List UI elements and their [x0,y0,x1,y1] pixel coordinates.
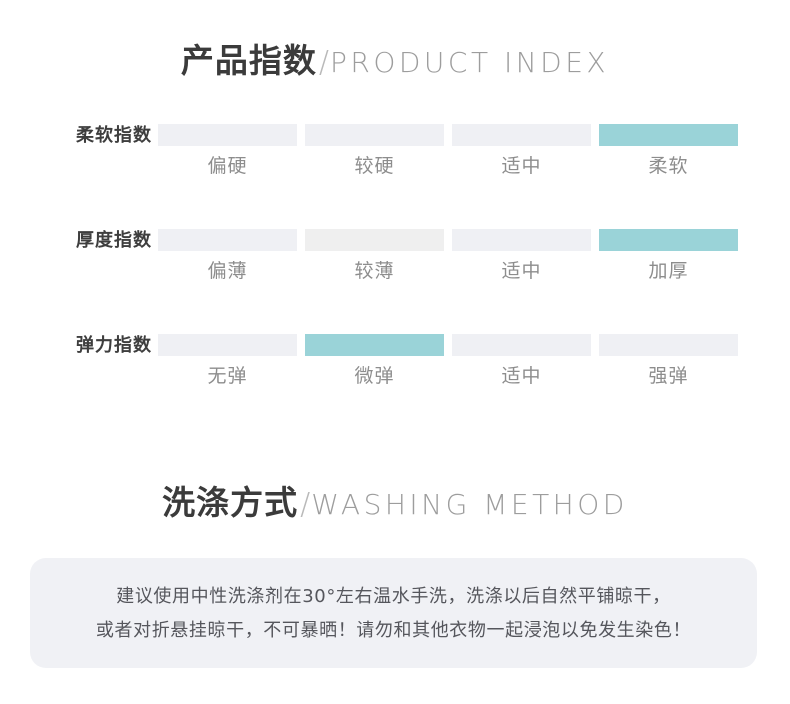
washing-method-title-cn: 洗涤方式 [162,483,298,522]
index-bar-segment[interactable] [599,334,738,356]
washing-instruction-line: 建议使用中性洗涤剂在30°左右温水手洗，洗涤以后自然平铺晾干， [30,580,757,614]
index-bar-label-active: 微弹 [305,363,444,389]
product-index-title-en: PRODUCT INDEX [330,46,609,79]
index-bar-segment[interactable] [158,334,297,356]
index-bar-segment-active[interactable] [599,229,738,251]
index-bar-label-group: 偏硬 较硬 适中 柔软 [158,153,738,179]
index-bar-segment[interactable] [452,124,591,146]
washing-method-title-en: WASHING METHOD [311,488,628,521]
index-bar-segment[interactable] [305,124,444,146]
index-bar-label-active: 加厚 [599,258,738,284]
index-row-thickness: 厚度指数 偏薄 较薄 适中 加厚 [0,223,790,289]
index-bar-label: 强弹 [599,363,738,389]
index-bar-segment[interactable] [158,229,297,251]
index-bar-track [158,124,738,146]
index-bar-label: 较硬 [305,153,444,179]
index-bar-track [158,229,738,251]
product-index-title-separator: / [319,45,329,80]
index-bar-label: 适中 [452,363,591,389]
index-bar-segment[interactable] [158,124,297,146]
index-row-elasticity: 弹力指数 无弹 微弹 适中 强弹 [0,328,790,394]
index-bar-track [158,334,738,356]
index-bar-label: 偏薄 [158,258,297,284]
index-row-label: 弹力指数 [40,331,152,357]
product-index-heading: 产品指数/PRODUCT INDEX [0,44,790,78]
index-bar-label: 无弹 [158,363,297,389]
index-row-softness: 柔软指数 偏硬 较硬 适中 柔软 [0,118,790,184]
washing-method-heading: 洗涤方式/WASHING METHOD [0,486,790,520]
index-bar-label-group: 偏薄 较薄 适中 加厚 [158,258,738,284]
washing-instructions-card: 建议使用中性洗涤剂在30°左右温水手洗，洗涤以后自然平铺晾干， 或者对折悬挂晾干… [30,558,757,668]
index-bar-label-active: 柔软 [599,153,738,179]
index-row-label: 柔软指数 [40,121,152,147]
index-bar-segment[interactable] [452,334,591,356]
index-bar-segment[interactable] [452,229,591,251]
index-bar-segment[interactable] [305,229,444,251]
washing-instruction-line: 或者对折悬挂晾干，不可暴晒！请勿和其他衣物一起浸泡以免发生染色！ [30,614,757,648]
index-bar-segment-active[interactable] [599,124,738,146]
washing-method-title-separator: / [300,487,310,522]
index-bar-label: 适中 [452,153,591,179]
index-bar-label-group: 无弹 微弹 适中 强弹 [158,363,738,389]
index-bar-label: 较薄 [305,258,444,284]
index-bar-label: 适中 [452,258,591,284]
index-bar-label: 偏硬 [158,153,297,179]
index-bar-segment-active[interactable] [305,334,444,356]
index-row-label: 厚度指数 [40,226,152,252]
product-index-title-cn: 产品指数 [181,41,317,80]
